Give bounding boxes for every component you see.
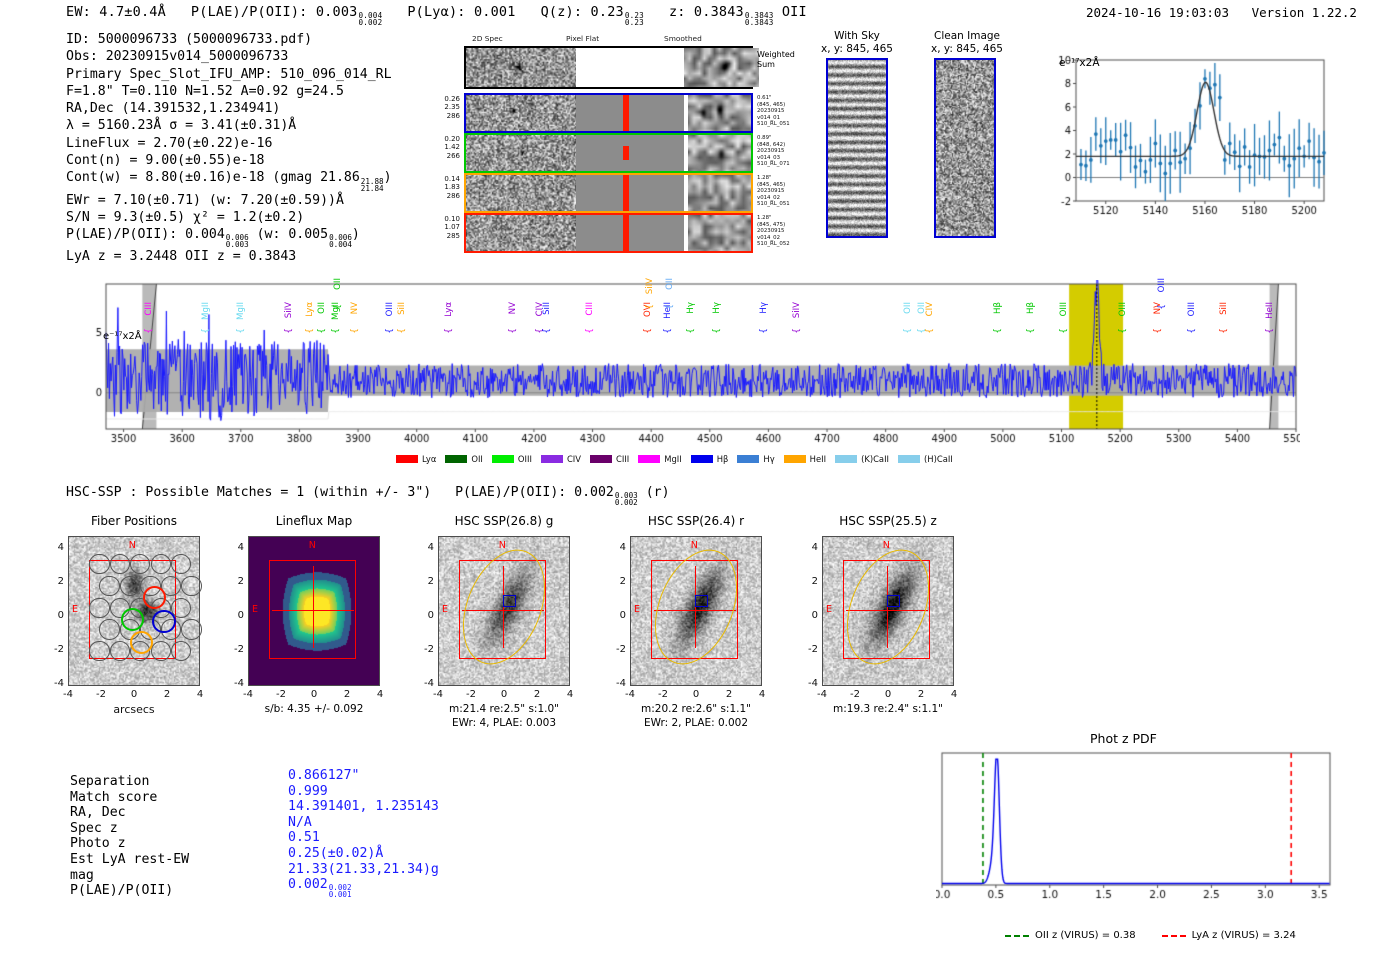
cutout-y-tick: 2 <box>802 576 818 587</box>
weighted-sum-2dspec-image <box>466 48 576 87</box>
cutout-panel-title: Lineflux Map <box>234 514 394 528</box>
legend-label: CIII <box>616 454 629 464</box>
photz-title: Phot z PDF <box>1090 731 1157 746</box>
cutout-subcaption-2: EWr: 4, PLAE: 0.003 <box>418 717 590 729</box>
emission-line-label: OIII <box>1157 278 1167 292</box>
emission-line-label: Hβ <box>993 302 1003 314</box>
emission-line-bracket: { <box>759 328 769 334</box>
legend-swatch <box>835 455 857 463</box>
cutout-y-tick: 4 <box>610 542 626 553</box>
emission-line-label: Hγ <box>686 302 696 314</box>
spec2d-row-smoothed-image <box>688 215 751 251</box>
cutout-x-tick: -2 <box>847 689 863 700</box>
legend-item: (K)CaII <box>835 454 889 464</box>
info-line-cont-n: Cont(n) = 9.00(±0.55)e-18 <box>66 152 392 169</box>
legend-label: OIII <box>518 454 532 464</box>
cutout-x-tick: 0 <box>496 689 512 700</box>
with-sky-caption: With Sky x, y: 845, 465 <box>812 30 902 55</box>
compass-east-label: E <box>72 604 78 615</box>
emission-line-label: NV <box>350 302 360 314</box>
emission-line-bracket: { <box>201 328 211 334</box>
clean-image-panel <box>934 58 996 238</box>
emission-line-label: OIII <box>385 302 395 316</box>
compass-east-label: E <box>826 604 832 615</box>
info-line-seeing: F=1.8" T=0.110 N=1.52 A=0.92 g=24.5 <box>66 83 392 100</box>
emission-line-bracket: { <box>686 328 696 334</box>
cutout-x-tick: -4 <box>622 689 638 700</box>
fiber-circle <box>89 598 109 618</box>
cutout-y-tick: -2 <box>610 644 626 655</box>
legend-item: Hγ <box>737 454 774 464</box>
photz-plot <box>936 747 1336 907</box>
emission-line-fit-plot <box>1036 52 1332 225</box>
cutout-subcaption-1: m:21.4 re:2.5" s:1.0" <box>418 703 590 715</box>
cutout-x-tick: 0 <box>880 689 896 700</box>
cutout-overlay: NE <box>822 536 954 686</box>
emission-line-label: SiII <box>1219 302 1229 315</box>
legend-swatch <box>492 455 514 463</box>
match-value-specz: N/A <box>288 815 439 831</box>
cutout-panel-title: HSC SSP(25.5) z <box>808 514 968 528</box>
emission-line-label: OII <box>317 302 327 314</box>
timestamp: 2024-10-16 19:03:03 <box>1086 5 1229 20</box>
emission-line-label: NV <box>508 302 518 314</box>
match-label-radec: RA, Dec <box>70 805 189 821</box>
header-z-lo: 0.3843 <box>745 19 774 26</box>
detection-box <box>887 595 900 607</box>
legend-item: CIV <box>541 454 581 464</box>
cutout-x-tick: -4 <box>240 689 256 700</box>
cutout-y-tick: 2 <box>48 576 64 587</box>
legend-swatch <box>445 455 467 463</box>
weighted-sum-smoothed-image <box>684 48 759 87</box>
emission-line-label: OIII <box>1118 302 1128 316</box>
hsc-ssp-heading: HSC-SSP : Possible Matches = 1 (within +… <box>66 485 670 506</box>
photz-legend: OII z (VIRUS) = 0.38LyA z (VIRUS) = 3.24 <box>1005 930 1296 941</box>
info-line-cont-w: Cont(w) = 8.80(±0.16)e-18 (gmag 21.8621.… <box>66 169 392 191</box>
photz-legend-label: LyA z (VIRUS) = 3.24 <box>1192 930 1296 941</box>
emission-line-bracket: { <box>1118 328 1128 334</box>
with-sky-title: With Sky <box>834 30 880 42</box>
header-plae-label: P(LAE)/P(OII): <box>191 4 308 20</box>
match-label-matchscore: Match score <box>70 790 189 806</box>
header-plya-value: 0.001 <box>474 4 516 20</box>
emission-line-label: HeII <box>1265 302 1275 319</box>
match-table-labels: Separation Match score RA, Dec Spec z Ph… <box>70 774 189 899</box>
cutout-panel-title: HSC SSP(26.8) g <box>424 514 584 528</box>
legend-label: (H)CaII <box>924 454 953 464</box>
header-z-value: 0.3843 <box>694 4 744 20</box>
cutout-x-tick: 0 <box>306 689 322 700</box>
spec2d-row-pixelflat-image <box>576 95 684 131</box>
cutout-y-tick: -2 <box>418 644 434 655</box>
compass-north-label: N <box>499 540 506 551</box>
cutout-panel-title: HSC SSP(26.4) r <box>616 514 776 528</box>
with-sky-image <box>828 60 886 236</box>
photz-legend-label: OII z (VIRUS) = 0.38 <box>1035 930 1136 941</box>
cutout-y-tick: -2 <box>48 644 64 655</box>
legend-item: MgII <box>638 454 681 464</box>
emission-line-label: Hγ <box>759 302 769 314</box>
emission-line-bracket: { <box>665 304 675 310</box>
emission-line-bracket: { <box>712 328 722 334</box>
cutout-panel-title: Fiber Positions <box>54 514 214 528</box>
emission-line-label: OIII <box>1059 302 1069 316</box>
legend-swatch <box>691 455 713 463</box>
match-value-photoz: 0.51 <box>288 830 439 846</box>
cutout-overlay: NE <box>68 536 200 686</box>
cutout-y-tick: -4 <box>48 678 64 689</box>
emission-line-bracket: { <box>925 328 935 334</box>
info-plae-lo: 0.003 <box>226 241 249 248</box>
cutout-x-tick: -4 <box>814 689 830 700</box>
legend-item: Lyα <box>396 454 436 464</box>
emission-line-bracket: { <box>305 328 315 334</box>
fiber-circle-highlight <box>143 586 166 609</box>
cutout-y-tick: 0 <box>610 610 626 621</box>
emission-line-label: OII <box>903 302 913 314</box>
detection-box <box>695 595 708 607</box>
match-value-estlyaew: 0.25(±0.02)Å <box>288 846 439 862</box>
info-line-lambda: λ = 5160.23Å σ = 3.41(±0.31)Å <box>66 117 392 134</box>
legend-label: MgII <box>664 454 681 464</box>
spec2d-row-left-labels: 0.262.35286 <box>426 95 460 120</box>
cutout-subcaption-2: EWr: 2, PLAE: 0.002 <box>610 717 782 729</box>
pixelflat-red-marker <box>623 95 629 131</box>
cutout-x-tick: 4 <box>192 689 208 700</box>
cutout-x-tick: -2 <box>655 689 671 700</box>
photz-legend-dash <box>1162 935 1186 937</box>
emission-line-bracket: { <box>508 328 518 334</box>
cutout-panels: Fiber PositionsNE420-2-4-4-2024arcsecsLi… <box>0 510 1000 710</box>
weighted-sum-row <box>464 46 753 89</box>
emission-line-fit-canvas <box>1036 52 1332 225</box>
emission-line-label: SiIV <box>284 302 294 318</box>
header-qz-value: 0.23 <box>591 4 624 20</box>
clean-image-image <box>936 60 994 236</box>
emission-line-label: OII <box>333 278 343 290</box>
spec2d-row <box>464 213 753 253</box>
spec2d-header-smoothed: Smoothed <box>664 34 702 43</box>
match-table-values: 0.866127" 0.999 14.391401, 1.235143 N/A … <box>288 768 439 898</box>
info-line-obs: Obs: 20230915v014_5000096733 <box>66 48 392 65</box>
info-line-plae: P(LAE)/P(OII): 0.0040.0060.003 (w: 0.005… <box>66 226 392 248</box>
with-sky-coords: x, y: 845, 465 <box>821 43 893 55</box>
legend-item: OII <box>445 454 483 464</box>
cutout-y-tick: 4 <box>228 542 244 553</box>
legend-swatch <box>541 455 563 463</box>
cutout-x-tick: 4 <box>562 689 578 700</box>
match-label-mag: mag <box>70 868 189 884</box>
emission-line-bracket: { <box>144 328 154 334</box>
cutout-subcaption-1: m:20.2 re:2.6" s:1.1" <box>610 703 782 715</box>
emission-line-bracket: { <box>1059 328 1069 334</box>
cutout-x-tick: -2 <box>273 689 289 700</box>
emission-line-bracket: { <box>542 328 552 334</box>
spectrum-legend: LyαOIIOIIICIVCIIIMgIIHβHγHeII(K)CaII(H)C… <box>396 454 962 464</box>
match-label-separation: Separation <box>70 774 189 790</box>
cutout-x-tick: 4 <box>754 689 770 700</box>
cutout-y-tick: 2 <box>228 576 244 587</box>
cutout-x-tick: 2 <box>529 689 545 700</box>
emission-line-label: MgII <box>201 302 211 320</box>
cutout-x-tick: -2 <box>93 689 109 700</box>
emission-line-bracket: { <box>1153 328 1163 334</box>
match-plae-lo: 0.001 <box>329 891 352 898</box>
legend-swatch <box>590 455 612 463</box>
cutout-x-tick: 2 <box>339 689 355 700</box>
fiber-circle <box>181 576 201 596</box>
emission-line-labels: CIII{MgII{MgII{SiIV{Lyα{OII{MgII{OII{NV{… <box>88 276 1300 346</box>
match-label-specz: Spec z <box>70 821 189 837</box>
compass-east-label: E <box>252 604 258 615</box>
emission-line-bracket: { <box>663 328 673 334</box>
emission-fit-flux-annotation: e⁻¹⁷x2Å <box>1059 57 1100 69</box>
legend-swatch <box>737 455 759 463</box>
header-qz-label: Q(z): <box>541 4 583 20</box>
hsc-heading-plae-label: P(LAE)/P(OII): <box>455 485 566 500</box>
legend-swatch <box>898 455 920 463</box>
legend-label: HeII <box>810 454 826 464</box>
version-label: Version 1.22.2 <box>1252 5 1357 20</box>
emission-line-bracket: { <box>585 328 595 334</box>
emission-line-label: OIII <box>1187 302 1197 316</box>
cutout-y-tick: -4 <box>418 678 434 689</box>
match-label-photoz: Photo z <box>70 836 189 852</box>
match-value-radec: 14.391401, 1.235143 <box>288 799 439 815</box>
legend-swatch <box>638 455 660 463</box>
cutout-x-tick: -4 <box>60 689 76 700</box>
spec2d-header-pixelflat: Pixel Flat <box>566 34 599 43</box>
cutout-y-tick: 4 <box>802 542 818 553</box>
photz-canvas <box>936 747 1336 907</box>
header-plae-lo: 0.002 <box>358 19 382 26</box>
emission-line-label: NV <box>1153 302 1163 314</box>
cutout-x-tick: 4 <box>946 689 962 700</box>
cutout-y-tick: 0 <box>228 610 244 621</box>
info-line-id: ID: 5000096733 (5000096733.pdf) <box>66 31 392 48</box>
cutout-x-tick: -4 <box>430 689 446 700</box>
legend-item: OIII <box>492 454 532 464</box>
cutout-overlay: NE <box>630 536 762 686</box>
emission-line-bracket: { <box>903 328 913 334</box>
legend-label: (K)CaII <box>861 454 889 464</box>
header-plae-value: 0.003 <box>316 4 358 20</box>
header-summary-line: EW: 4.7±0.4Å P(LAE)/P(OII): 0.0030.0040.… <box>66 4 807 26</box>
emission-line-label: SiII <box>397 302 407 315</box>
hsc-heading-lo: 0.002 <box>615 499 638 506</box>
fiber-circle <box>99 576 119 596</box>
cutout-x-axis-label: arcsecs <box>68 703 200 716</box>
spec2d-row-2dspec-image <box>466 215 576 251</box>
emission-line-bracket: { <box>1187 328 1197 334</box>
spec2d-row-pixelflat-image <box>576 135 684 171</box>
photz-legend-item: LyA z (VIRUS) = 3.24 <box>1162 930 1296 941</box>
match-value-mag: 21.33(21.33,21.34)g <box>288 862 439 878</box>
emission-line-bracket: { <box>1219 328 1229 334</box>
hsc-heading-a: HSC-SSP : Possible Matches = 1 (within +… <box>66 485 431 500</box>
emission-line-bracket: { <box>993 328 1003 334</box>
photz-legend-item: OII z (VIRUS) = 0.38 <box>1005 930 1136 941</box>
cutout-y-tick: 0 <box>418 610 434 621</box>
pixelflat-red-marker <box>623 175 629 211</box>
spec2d-row-right-labels: 0.89"(848, 642)20230915v014_03510_RL_071 <box>757 135 817 168</box>
spec2d-row-smoothed-image <box>688 135 751 171</box>
spec2d-row-2dspec-image <box>466 175 576 211</box>
cutout-y-tick: -4 <box>610 678 626 689</box>
with-sky-panel <box>826 58 888 238</box>
legend-label: OII <box>471 454 483 464</box>
spec2d-row-left-labels: 0.101.07285 <box>426 215 460 240</box>
legend-item: (H)CaII <box>898 454 953 464</box>
match-value-matchscore: 0.999 <box>288 784 439 800</box>
cutout-overlay: NE <box>248 536 380 686</box>
spec2d-header-2dspec: 2D Spec <box>472 34 503 43</box>
emission-line-bracket: { <box>792 328 802 334</box>
spec2d-row-pixelflat-image <box>576 215 684 251</box>
emission-line-bracket: { <box>317 328 327 334</box>
hsc-heading-plae-value: 0.002 <box>574 485 614 500</box>
cutout-x-tick: 0 <box>126 689 142 700</box>
cutout-overlay: NE <box>438 536 570 686</box>
match-value-plae: 0.0020.0020.001 <box>288 877 439 898</box>
emission-line-label: Lyα <box>305 302 315 317</box>
info-line-radec: RA,Dec (14.391532,1.234941) <box>66 100 392 117</box>
cutout-y-tick: 2 <box>610 576 626 587</box>
info-line-z: LyA z = 3.2448 OII z = 0.3843 <box>66 248 392 265</box>
compass-north-label: N <box>883 540 890 551</box>
fiber-circle <box>171 641 191 661</box>
fiber-circle <box>171 554 191 574</box>
cutout-x-tick: 4 <box>372 689 388 700</box>
info-line-primary: Primary Spec_Slot_IFU_AMP: 510_096_014_R… <box>66 66 392 83</box>
cutout-y-tick: 4 <box>418 542 434 553</box>
legend-item: Hβ <box>691 454 729 464</box>
fiber-circle-highlight <box>121 608 144 631</box>
compass-east-label: E <box>442 604 448 615</box>
spec2d-row-2dspec-image <box>466 135 576 171</box>
emission-line-label: MgII <box>236 302 246 320</box>
cutout-x-tick: 2 <box>721 689 737 700</box>
spec2d-row-right-labels: 1.28"(845, 475)20230915v014_02510_RL_052 <box>757 215 817 248</box>
legend-item: CIII <box>590 454 629 464</box>
legend-label: Hβ <box>717 454 729 464</box>
spec2d-row-left-labels: 0.141.83286 <box>426 175 460 200</box>
emission-line-bracket: { <box>397 328 407 334</box>
fiber-circle <box>181 619 201 639</box>
cutout-y-tick: -4 <box>802 678 818 689</box>
spec2d-row-2dspec-image <box>466 95 576 131</box>
pixelflat-red-marker <box>623 215 629 251</box>
emission-line-bracket: { <box>350 328 360 334</box>
pixelflat-red-marker <box>623 146 629 160</box>
info-line-ewr: EWr = 7.10(±0.71) (w: 7.20(±0.59))Å <box>66 192 392 209</box>
header-z-label: z: <box>669 4 686 20</box>
header-timestamp-version: 2024-10-16 19:03:03 Version 1.22.2 <box>1086 5 1357 20</box>
detection-box <box>503 595 516 607</box>
match-value-separation: 0.866127" <box>288 768 439 784</box>
fiber-circle <box>89 554 109 574</box>
spec2d-row-right-labels: 0.61"(845, 465)20230915v014_01510_RL_051 <box>757 95 817 128</box>
spec2d-row <box>464 93 753 133</box>
weighted-sum-pixelflat-image <box>576 48 684 87</box>
emission-line-bracket: { <box>444 328 454 334</box>
emission-line-label: SiIV <box>792 302 802 318</box>
cutout-y-tick: 0 <box>802 610 818 621</box>
emission-line-bracket: { <box>284 328 294 334</box>
legend-item: HeII <box>784 454 826 464</box>
legend-swatch <box>784 455 806 463</box>
emission-line-bracket: { <box>645 304 655 310</box>
legend-label: Lyα <box>422 454 436 464</box>
emission-line-bracket: { <box>1265 328 1275 334</box>
header-ew: EW: 4.7±0.4Å <box>66 4 166 20</box>
cutout-y-tick: -2 <box>228 644 244 655</box>
photz-legend-dash <box>1005 935 1029 937</box>
cutout-y-tick: -2 <box>802 644 818 655</box>
cutout-x-tick: 2 <box>913 689 929 700</box>
emission-line-bracket: { <box>331 328 341 334</box>
compass-north-label: N <box>129 540 136 551</box>
header-plya-label: P(Lyα): <box>407 4 465 20</box>
fiber-circle <box>99 619 119 639</box>
cutout-y-tick: 2 <box>418 576 434 587</box>
spec2d-rows: 0.262.352860.61"(845, 465)20230915v014_0… <box>464 93 764 253</box>
emission-line-bracket: { <box>1026 328 1036 334</box>
emission-line-bracket: { <box>333 304 343 310</box>
cutout-subcaption-1: m:19.3 re:2.4" s:1.1" <box>802 703 974 715</box>
clean-image-title: Clean Image <box>934 30 1000 42</box>
cutout-y-tick: 0 <box>48 610 64 621</box>
match-label-estlyaew: Est LyA rest-EW <box>70 852 189 868</box>
cutout-x-tick: 0 <box>688 689 704 700</box>
emission-line-label: SiIV <box>645 278 655 294</box>
clean-image-caption: Clean Image x, y: 845, 465 <box>917 30 1017 55</box>
emission-line-label: CIII <box>585 302 595 316</box>
cutout-y-tick: -4 <box>228 678 244 689</box>
emission-line-label: OII <box>665 278 675 290</box>
emission-line-label: Hγ <box>712 302 722 314</box>
emission-line-label: CIV <box>925 302 935 316</box>
header-qz-lo: 0.23 <box>625 19 644 26</box>
weighted-sum-label: WeightedSum <box>757 50 795 70</box>
emission-line-label: SiII <box>542 302 552 315</box>
compass-east-label: E <box>634 604 640 615</box>
spec2d-row-smoothed-image <box>688 175 751 211</box>
cutout-x-tick: 2 <box>159 689 175 700</box>
spec2d-row <box>464 173 753 213</box>
cutout-subcaption-1: s/b: 4.35 +/- 0.092 <box>228 703 400 715</box>
info-plae-w-lo: 0.004 <box>329 241 352 248</box>
compass-north-label: N <box>309 540 316 551</box>
fiber-circle-highlight <box>152 610 175 633</box>
match-label-plae: P(LAE)/P(OII) <box>70 883 189 899</box>
info-line-lineflux: LineFlux = 2.70(±0.22)e-16 <box>66 135 392 152</box>
gmag-lo: 21.84 <box>361 185 384 192</box>
header-z-type: OII <box>782 4 807 20</box>
emission-line-bracket: { <box>643 328 653 334</box>
target-info-block: ID: 5000096733 (5000096733.pdf) Obs: 202… <box>66 31 392 266</box>
spec2d-row <box>464 133 753 173</box>
spec2d-row-left-labels: 0.201.42266 <box>426 135 460 160</box>
legend-label: Hγ <box>763 454 774 464</box>
legend-swatch <box>396 455 418 463</box>
emission-line-label: Hβ <box>1026 302 1036 314</box>
spec2d-row-smoothed-image <box>688 95 751 131</box>
fiber-circle <box>89 641 109 661</box>
clean-image-coords: x, y: 845, 465 <box>931 43 1003 55</box>
compass-north-label: N <box>691 540 698 551</box>
